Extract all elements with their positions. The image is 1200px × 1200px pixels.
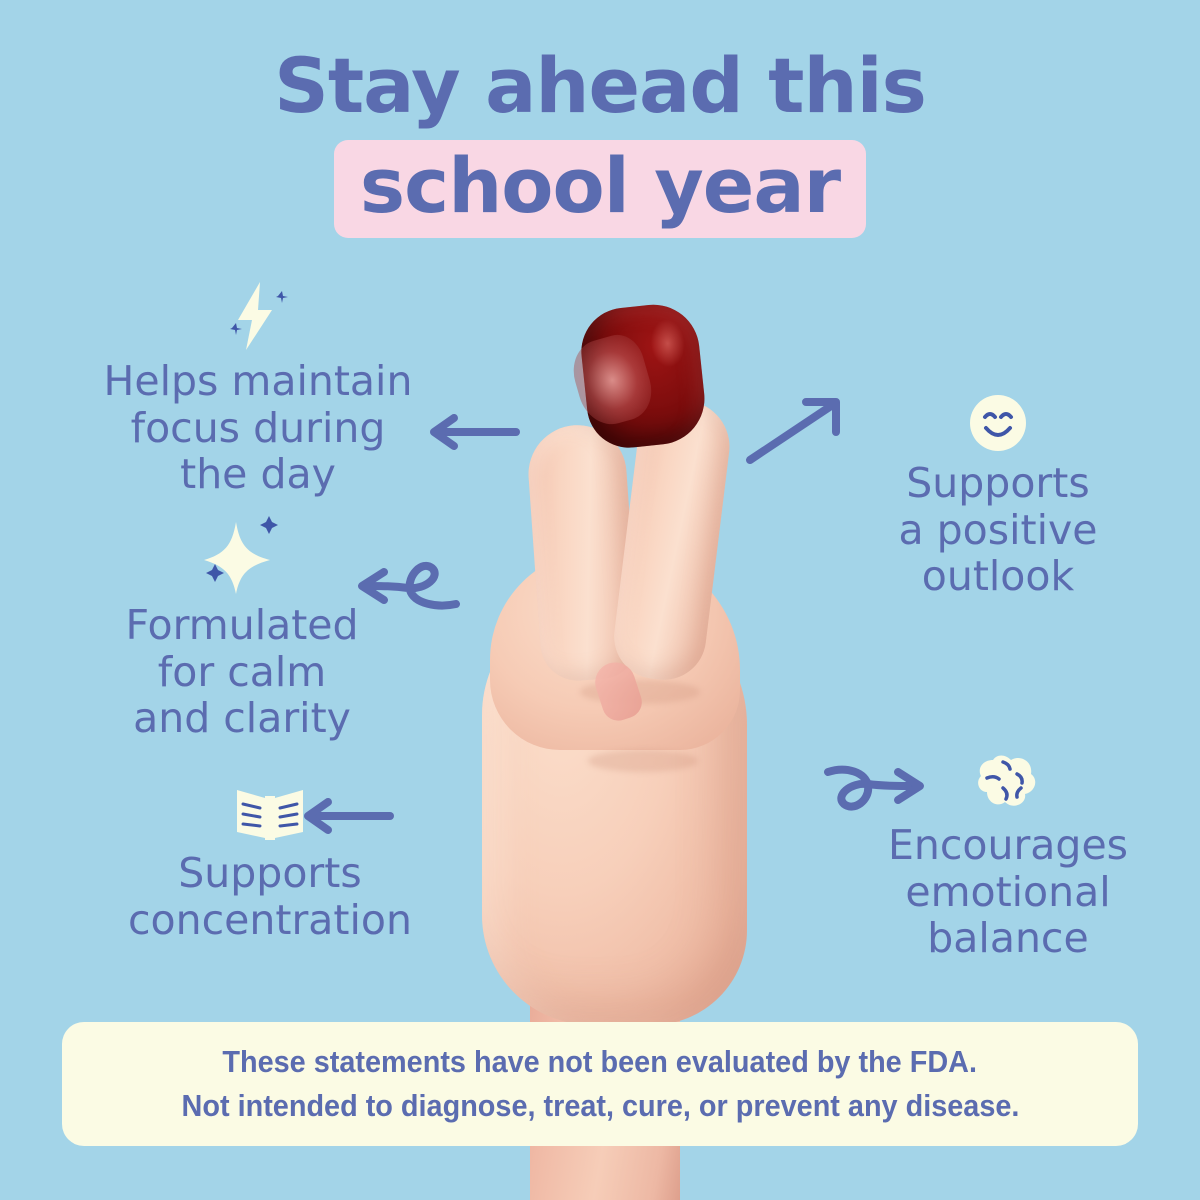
gummy-highlight (648, 318, 687, 369)
gummy-emboss (566, 329, 659, 432)
fda-disclaimer: These statements have not been evaluated… (62, 1022, 1138, 1146)
feature-emotional-balance-text: Encourages emotional balance (838, 822, 1178, 962)
brain-icon (973, 752, 1043, 816)
headline-line-1: Stay ahead this (0, 48, 1200, 124)
feature-concentration: Supports concentration (70, 782, 470, 943)
arrow-left-straight-icon (424, 408, 520, 456)
feature-focus-text: Helps maintain focus during the day (48, 358, 468, 498)
lightning-bolt-icon (216, 280, 300, 352)
promotional-poster: Stay ahead this school year Helps mainta… (0, 0, 1200, 1200)
feature-calm-text: Formulated for calm and clarity (42, 602, 442, 742)
feature-outlook-text: Supports a positive outlook (828, 460, 1168, 600)
feature-focus: Helps maintain focus during the day (48, 280, 468, 498)
gummy-product (577, 300, 709, 452)
headline-line-2-highlight: school year (334, 140, 866, 238)
smiley-face-icon (967, 392, 1029, 454)
arrow-left-curly-icon (352, 548, 462, 620)
knuckle-crease (588, 750, 698, 772)
sparkle-icon (196, 516, 288, 596)
headline: Stay ahead this school year (0, 48, 1200, 238)
arrow-left-straight-icon (298, 792, 394, 840)
arrow-right-curly-icon (822, 758, 932, 824)
arrow-up-right-straight-icon (742, 392, 846, 468)
disclaimer-line-2: Not intended to diagnose, treat, cure, o… (181, 1084, 1019, 1128)
disclaimer-line-1: These statements have not been evaluated… (223, 1040, 978, 1084)
feature-concentration-text: Supports concentration (70, 850, 470, 943)
headline-line-2-wrapper: school year (0, 140, 1200, 238)
feature-outlook: Supports a positive outlook (828, 392, 1168, 600)
